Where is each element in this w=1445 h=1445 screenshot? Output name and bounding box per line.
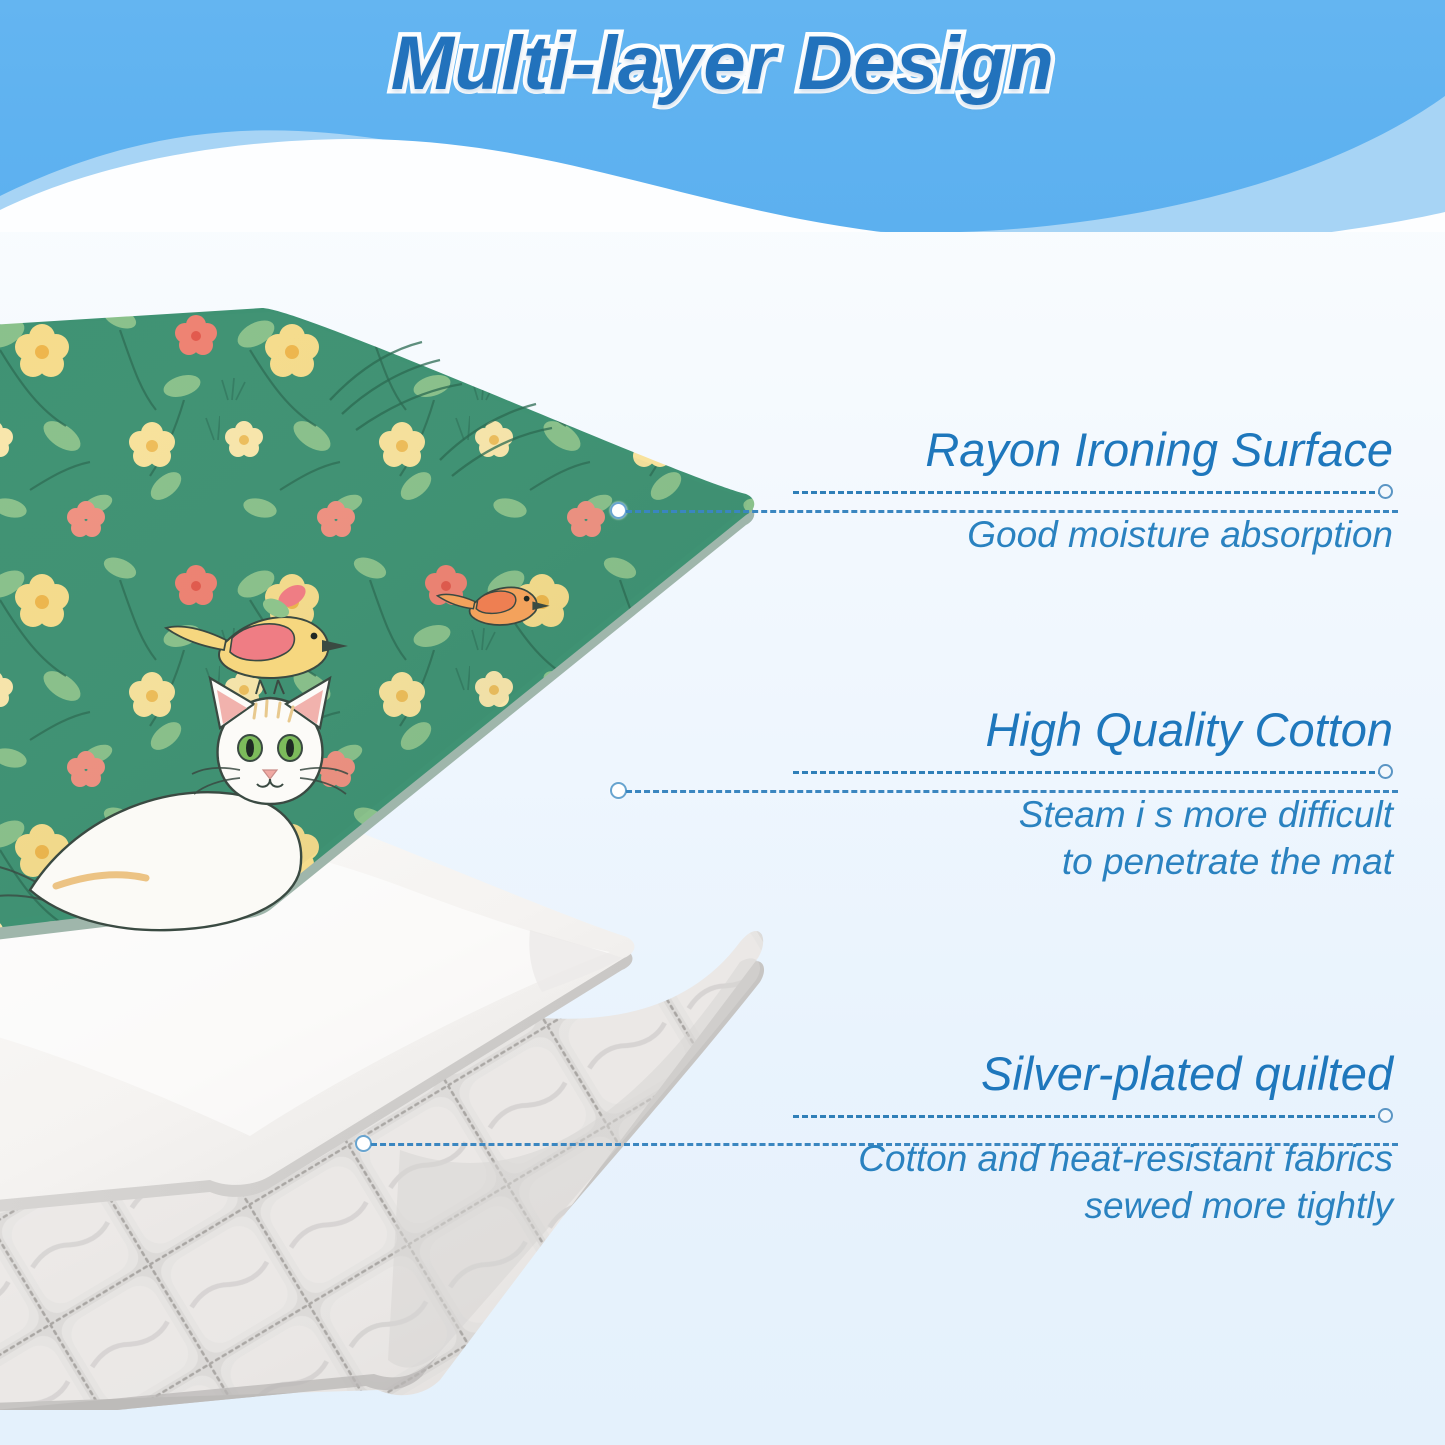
callout-dashed-rule bbox=[793, 771, 1384, 774]
callout-title: Silver-plated quilted bbox=[793, 1048, 1393, 1101]
callout-subtitle-line: sewed more tightly bbox=[793, 1182, 1393, 1229]
leader-anchor-dot bbox=[610, 782, 627, 799]
callout-divider bbox=[793, 761, 1393, 783]
header-banner: Multi-layer Design bbox=[0, 0, 1445, 232]
page-title: Multi-layer Design bbox=[0, 20, 1445, 107]
callout-dashed-rule bbox=[793, 1115, 1384, 1118]
callout-end-circle-icon bbox=[1378, 1108, 1393, 1123]
callout-rayon-ironing-surface: Rayon Ironing Surface Good moisture abso… bbox=[793, 424, 1393, 558]
callout-subtitle-line: Steam i s more difficult bbox=[793, 791, 1393, 838]
callout-divider bbox=[793, 481, 1393, 503]
callout-divider bbox=[793, 1105, 1393, 1127]
callout-silver-plated-quilted: Silver-plated quilted Cotton and heat-re… bbox=[793, 1048, 1393, 1229]
multi-layer-product-illustration bbox=[0, 290, 790, 1410]
callout-subtitle-line: Cotton and heat-resistant fabrics bbox=[793, 1135, 1393, 1182]
callout-high-quality-cotton: High Quality Cotton Steam i s more diffi… bbox=[793, 704, 1393, 885]
callout-subtitle-line: Good moisture absorption bbox=[793, 511, 1393, 558]
callout-end-circle-icon bbox=[1378, 484, 1393, 499]
callout-dashed-rule bbox=[793, 491, 1384, 494]
callout-title: High Quality Cotton bbox=[793, 704, 1393, 757]
callout-end-circle-icon bbox=[1378, 764, 1393, 779]
callout-title: Rayon Ironing Surface bbox=[793, 424, 1393, 477]
leader-anchor-dot bbox=[610, 502, 627, 519]
leader-anchor-dot bbox=[355, 1135, 372, 1152]
callout-subtitle-line: to penetrate the mat bbox=[793, 838, 1393, 885]
